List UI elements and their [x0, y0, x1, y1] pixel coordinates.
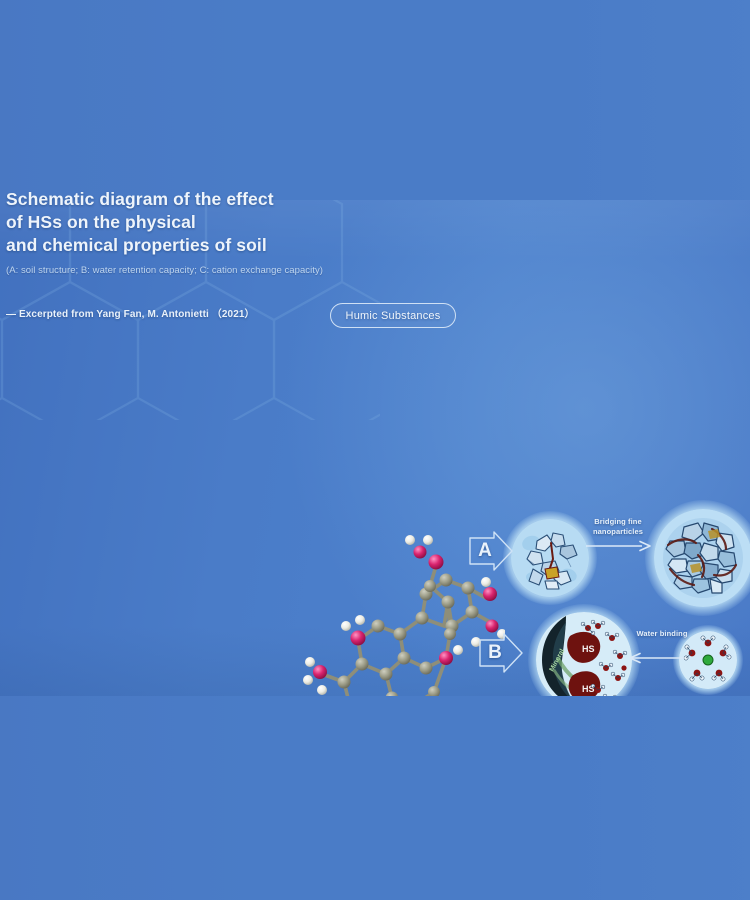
page-title: Schematic diagram of the effect of HSs o…	[6, 188, 336, 257]
page-subtitle: (A: soil structure; B: water retention c…	[6, 264, 336, 277]
panel-loose-fine-nanoparticles	[511, 519, 589, 597]
svg-text:HS: HS	[582, 644, 595, 654]
poster-text-block: Schematic diagram of the effect of HSs o…	[6, 188, 336, 320]
page-title-line-3: and chemical properties of soil	[6, 234, 336, 257]
row-marker-b: B	[478, 632, 524, 674]
page-title-line-1: Schematic diagram of the effect	[6, 188, 336, 211]
source-credit: — Excerpted from Yang Fan, M. Antonietti…	[6, 305, 336, 320]
page-title-line-2: of HSs on the physical	[6, 211, 336, 234]
row-marker-b-label: B	[481, 632, 509, 674]
humic-substances-badge: Humic Substances	[330, 303, 456, 328]
row-marker-a-label: A	[471, 530, 499, 572]
flow-label-water-binding: Water binding	[625, 629, 699, 639]
panel-aggregated-soil-particles	[654, 509, 750, 607]
flow-arrow-right-a	[586, 540, 652, 552]
row-marker-a: A	[468, 530, 514, 572]
panel-hydrated-cation	[679, 631, 737, 689]
poster-canvas: A Bridging fine nanoparticles	[0, 0, 750, 900]
flow-arrow-left-b	[628, 652, 684, 664]
flow-label-bridging: Bridging fine nanoparticles	[583, 517, 653, 536]
